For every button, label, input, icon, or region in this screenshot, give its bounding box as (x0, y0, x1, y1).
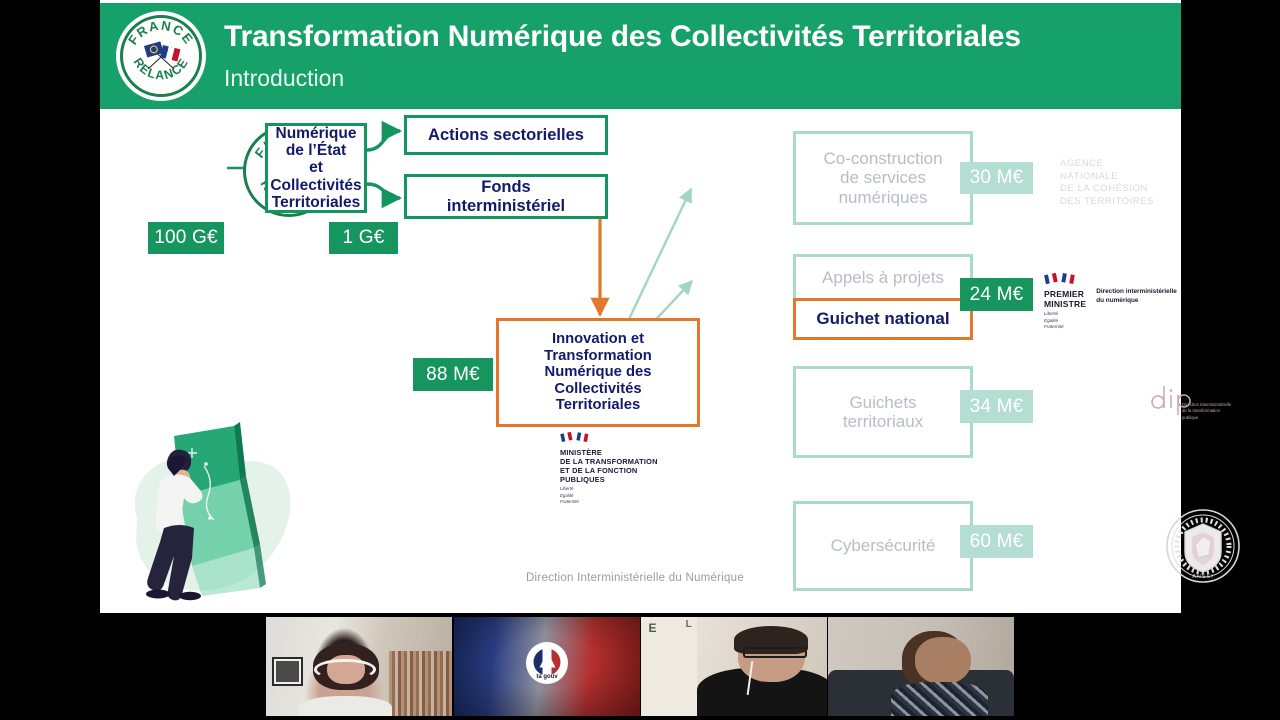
person-screen-illustration (118, 418, 308, 608)
participant-1-headphones (314, 659, 375, 681)
arrow-numerique-to-actions (367, 131, 400, 150)
box-appels-a-projets[interactable]: Appels à projets (793, 254, 973, 302)
anct-logo: AGENCE NATIONALE DE LA COHÉSION DES TERR… (1060, 158, 1154, 208)
box-guichets-territoriaux[interactable]: Guichets territoriaux (793, 366, 973, 458)
video-tile-participant-4[interactable]: participant-4 (828, 617, 1014, 716)
french-flag-icon (1044, 273, 1078, 285)
box-guichet-national[interactable]: Guichet national (793, 298, 973, 340)
box-actions-sectorielles[interactable]: Actions sectorielles (404, 115, 608, 155)
badge-88-millions: 88 M€ (413, 358, 493, 391)
gouv-logo-disc: ta gouv (526, 642, 568, 684)
dinum-text: Direction interministérielle du numériqu… (1096, 288, 1177, 305)
video-thumbnail-strip: participant-1 ta gouv ta.gouv E L partic… (0, 613, 1280, 720)
france-relance-mark: FRANCE RELANCE (116, 11, 206, 101)
ditp-subtitle: Direction interministérielle de la trans… (1182, 402, 1242, 421)
france-relance-logo-header: FRANCE RELANCE (116, 11, 206, 101)
premier-ministre-block: PREMIER MINISTRE Liberté Égalité Fratern… (1044, 272, 1086, 331)
slide-footer-note: Direction Interministérielle du Numériqu… (526, 572, 744, 584)
slide-subtitle: Introduction (224, 65, 344, 92)
svg-text:ANSSI: ANSSI (1192, 574, 1214, 580)
badge-24-millions: 24 M€ (960, 278, 1033, 311)
participant-3-glasses (743, 647, 806, 658)
premier-ministre-dinum-logo: PREMIER MINISTRE Liberté Égalité Fratern… (1044, 272, 1177, 331)
svg-text:FRANCE: FRANCE (125, 18, 197, 48)
svg-text:RELANCE: RELANCE (131, 55, 192, 82)
screen-root: FRANCE RELANCE (0, 0, 1280, 720)
french-flag-icon-ministere (560, 432, 592, 443)
badge-60-millions: 60 M€ (960, 525, 1033, 558)
ditp-logo: Direction interministérielle de la trans… (1150, 382, 1206, 421)
box-numerique-etat[interactable]: Numérique de l’État et Collectivités Ter… (265, 123, 367, 213)
box-innovation-transformation[interactable]: Innovation et Transformation Numérique d… (496, 318, 700, 427)
anssi-seal-icon: ANSSI (1165, 508, 1241, 584)
marianne-icon (534, 648, 561, 675)
badge-30-millions: 30 M€ (960, 162, 1033, 194)
ministere-text: MINISTÈRE DE LA TRANSFORMATION ET DE LA … (560, 448, 658, 484)
box-cybersecurite[interactable]: Cybersécurité (793, 501, 973, 591)
participant-1-body (299, 696, 392, 716)
video-tile-participant-3[interactable]: E L participant-3 (641, 617, 827, 716)
box-fonds-interministeriel[interactable]: Fonds interministériel (404, 174, 608, 219)
video-tile-participant-1[interactable]: participant-1 (266, 617, 452, 716)
participant-4-head (915, 637, 971, 685)
premier-ministre-text: PREMIER MINISTRE (1044, 290, 1086, 309)
video-tile-participant-2[interactable]: ta gouv ta.gouv (454, 617, 640, 716)
anssi-seal-logo: ANSSI (1165, 508, 1241, 589)
ministere-transformation-logo: MINISTÈRE DE LA TRANSFORMATION ET DE LA … (560, 430, 658, 505)
premier-ministre-devise: Liberté Égalité Fraternité (1044, 311, 1086, 331)
ministere-devise: Liberté Égalité Fraternité (560, 486, 658, 505)
box-co-construction[interactable]: Co-construction de services numériques (793, 131, 973, 225)
wall-letter-l: L (686, 619, 692, 630)
gouv-logo-text: ta gouv (526, 674, 568, 680)
bookshelf-background (389, 651, 452, 716)
participant-4-torso (891, 682, 988, 716)
badge-1-milliard: 1 G€ (329, 222, 398, 254)
wall-picture-frame (272, 657, 304, 687)
arrow-numerique-to-fonds (367, 184, 400, 198)
presentation-slide: FRANCE RELANCE (100, 0, 1181, 613)
badge-100-milliards: 100 G€ (148, 222, 224, 254)
slide-title: Transformation Numérique des Collectivit… (224, 20, 1021, 54)
slide-header: FRANCE RELANCE (100, 3, 1181, 109)
badge-34-millions: 34 M€ (960, 390, 1033, 423)
wall-letter-e: E (648, 621, 656, 635)
